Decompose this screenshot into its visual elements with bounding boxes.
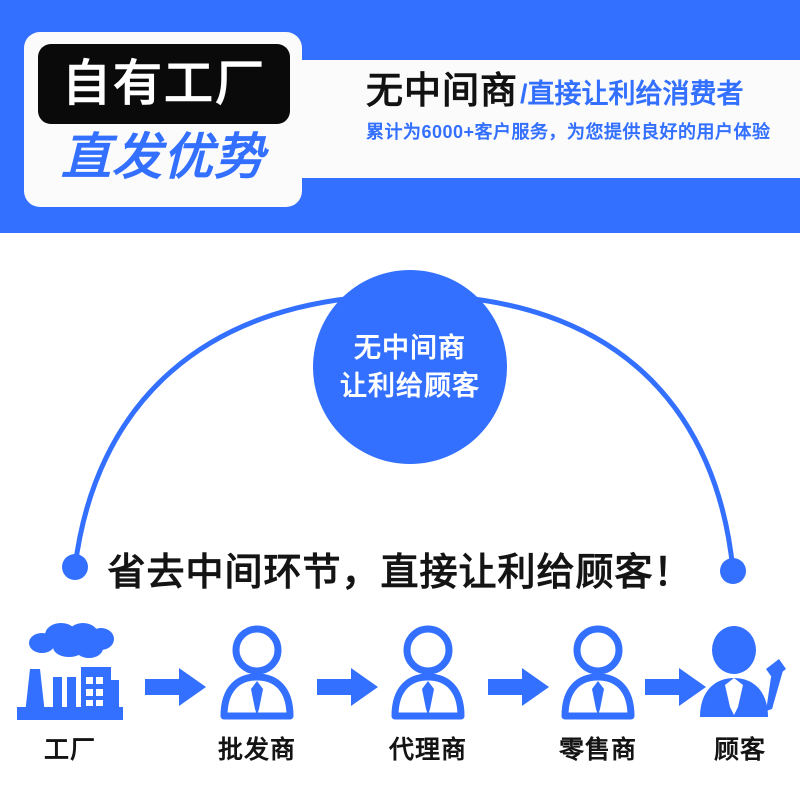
factory-icon xyxy=(9,618,131,728)
header-text-block: 无中间商 /直接让利给消费者 累计为6000+客户服务，为您提供良好的用户体验 xyxy=(366,72,796,144)
chain-node-wholesaler: 批发商 xyxy=(187,618,327,788)
badge-sub-label: 直发优势 xyxy=(38,132,288,182)
person-pencil-solid-icon xyxy=(692,618,788,728)
bubble-line-2: 让利给顾客 xyxy=(340,367,480,405)
badge-pill: 自有工厂 xyxy=(38,44,290,124)
chain-label-agent: 代理商 xyxy=(389,730,467,766)
chain-label-retailer: 零售商 xyxy=(559,730,637,766)
chain-label-factory: 工厂 xyxy=(44,730,96,766)
supply-chain-row: 工厂 批发商 xyxy=(0,618,800,788)
person-tie-outline-icon xyxy=(385,618,471,728)
chain-node-agent: 代理商 xyxy=(358,618,498,788)
chain-label-customer: 顾客 xyxy=(714,730,766,766)
main-headline: 省去中间环节，直接让利给顾客！ xyxy=(0,541,800,596)
chain-node-factory: 工厂 xyxy=(0,618,140,788)
no-middleman-bubble: 无中间商 让利给顾客 xyxy=(313,270,507,464)
chain-node-customer: 顾客 xyxy=(670,618,800,788)
factory-advantage-badge: 自有工厂 直发优势 xyxy=(24,32,302,207)
arc-diagram: 无中间商 让利给顾客 省去中间环节，直接让利给顾客！ xyxy=(0,233,800,613)
header-title-main: 无中间商 xyxy=(366,72,518,111)
header-subtitle: 累计为6000+客户服务，为您提供良好的用户体验 xyxy=(366,118,796,144)
header-banner: 自有工厂 直发优势 无中间商 /直接让利给消费者 累计为6000+客户服务，为您… xyxy=(0,0,800,233)
person-tie-outline-icon xyxy=(555,618,641,728)
chain-label-wholesaler: 批发商 xyxy=(218,730,296,766)
person-tie-outline-icon xyxy=(214,618,300,728)
bubble-line-1: 无中间商 xyxy=(354,329,466,367)
badge-pill-label: 自有工厂 xyxy=(62,60,266,109)
header-title-accent: /直接让利给消费者 xyxy=(520,80,744,108)
header-title-row: 无中间商 /直接让利给消费者 xyxy=(366,72,796,111)
promo-banner-page: 自有工厂 直发优势 无中间商 /直接让利给消费者 累计为6000+客户服务，为您… xyxy=(0,0,800,797)
